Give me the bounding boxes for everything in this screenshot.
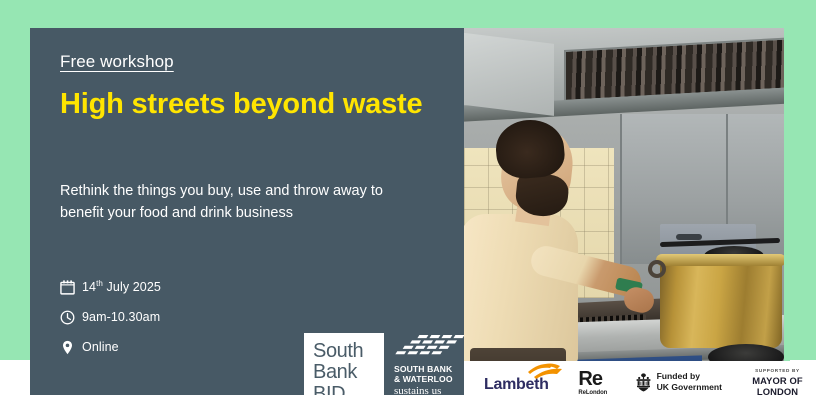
page-title: High streets beyond waste <box>60 86 440 124</box>
clock-icon <box>60 310 82 325</box>
sbbid-line-3: BID <box>313 384 384 395</box>
event-details-list: 14th July 2025 9am-10.30am <box>60 274 161 364</box>
photo-chef-apron <box>470 348 566 361</box>
sbbid-line-2: Bank <box>313 362 384 384</box>
photo-chef-body <box>464 214 578 361</box>
mayor-wordmark: MAYOR OF LONDON <box>739 375 816 397</box>
funder-logo-bar: Lambeth Re ReLondon <box>470 361 816 403</box>
detail-row-date: 14th July 2025 <box>60 274 161 300</box>
detail-time-text: 9am-10.30am <box>82 310 160 324</box>
photo-right-edge-gap <box>784 28 790 361</box>
poster-canvas: Free workshop High streets beyond waste … <box>0 0 816 420</box>
photo-stock-pot-rim <box>656 254 786 266</box>
south-bank-bid-logo: South Bank BID <box>304 333 384 395</box>
woven-diagonal-mark-icon <box>394 334 464 364</box>
subheading-text: Rethink the things you buy, use and thro… <box>60 180 400 225</box>
info-card: Free workshop High streets beyond waste … <box>30 28 464 395</box>
sbwat-line-1: SOUTH BANK <box>394 364 464 374</box>
south-bank-waterloo-logo: SOUTH BANK & WATERLOO sustains us <box>394 334 464 395</box>
kitchen-photo <box>464 28 790 361</box>
uk-government-logo: Funded by UK Government <box>635 371 725 392</box>
photo-hood-side <box>464 32 554 116</box>
calendar-icon <box>60 280 82 295</box>
mayor-supported-by-label: SUPPORTED BY <box>739 368 816 373</box>
relondon-wordmark: Re <box>578 369 618 389</box>
uk-government-wordmark: Funded by UK Government <box>657 371 722 392</box>
relondon-logo: Re ReLondon <box>578 369 618 396</box>
sbwat-line-3: sustains us <box>394 385 464 395</box>
sbbid-line-1: South <box>313 341 384 363</box>
detail-location-text: Online <box>82 340 119 354</box>
sbwat-line-2: & WATERLOO <box>394 374 464 384</box>
mayor-of-london-logo: SUPPORTED BY MAYOR OF LONDON <box>739 368 816 397</box>
lambeth-chevrons-icon <box>526 362 566 380</box>
detail-row-time: 9am-10.30am <box>60 304 161 330</box>
location-pin-icon <box>60 340 82 355</box>
detail-row-location: Online <box>60 334 161 360</box>
ukgov-line-1: Funded by <box>657 371 722 382</box>
photo-cabinet-handle <box>676 234 702 240</box>
lambeth-logo: Lambeth <box>484 370 564 394</box>
ukgov-line-2: UK Government <box>657 382 722 393</box>
photo-stock-pot <box>660 258 782 348</box>
relondon-subtext: ReLondon <box>578 390 618 396</box>
eyebrow-label: Free workshop <box>60 52 174 72</box>
detail-date-text: 14th July 2025 <box>82 279 161 294</box>
photo-stock-pot-handle <box>648 260 666 278</box>
royal-crest-icon <box>635 373 652 392</box>
